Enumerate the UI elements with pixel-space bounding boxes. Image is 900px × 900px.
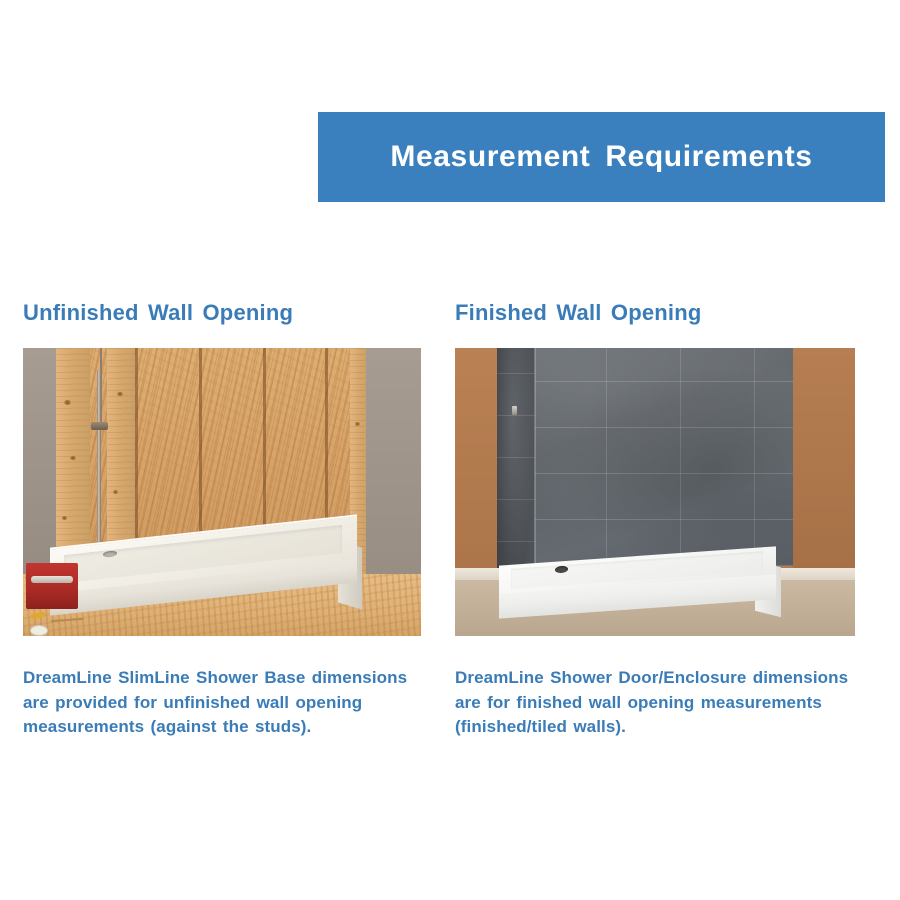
photo2-right-painted-wall [793, 348, 855, 588]
photo2-tiled-back-wall [532, 348, 793, 566]
photo1-red-toolbox [26, 563, 78, 609]
photo1-pipe-clamp [91, 422, 108, 430]
unfinished-wall-opening-photo [23, 348, 421, 636]
caption-finished: DreamLine Shower Door/Enclosure dimensio… [455, 666, 855, 740]
photo2-left-painted-wall [455, 348, 497, 586]
photo1-tape-roll [30, 625, 48, 636]
photo1-toolbox-handle [31, 576, 73, 583]
photo2-wall-corner [534, 348, 536, 570]
caption-unfinished: DreamLine SlimLine Shower Base dimension… [23, 666, 421, 740]
section-heading-unfinished: Unfinished Wall Opening [23, 300, 421, 326]
section-heading-finished: Finished Wall Opening [455, 300, 855, 326]
measurement-requirements-banner: Measurement Requirements [318, 112, 885, 202]
photo2-shower-valve [512, 406, 517, 415]
finished-wall-opening-column: Finished Wall Opening DreamLine Shower D… [455, 300, 855, 757]
photo2-tiled-side-wall [497, 348, 535, 584]
unfinished-wall-opening-column: Unfinished Wall Opening [23, 300, 421, 757]
page-title: Measurement Requirements [390, 140, 812, 174]
finished-wall-opening-photo [455, 348, 855, 636]
